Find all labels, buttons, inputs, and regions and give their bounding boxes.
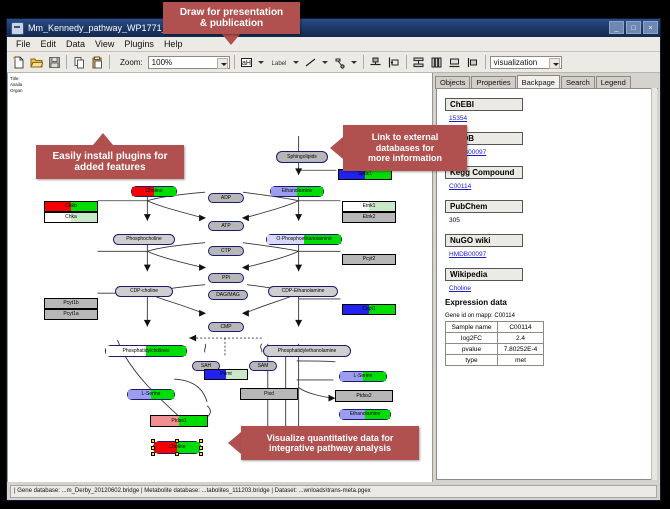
visualization-combobox[interactable]: visualization bbox=[490, 56, 562, 69]
gene-node-ptdss2[interactable]: Ptdss2 bbox=[335, 390, 393, 402]
minimize-button[interactable]: _ bbox=[609, 21, 624, 34]
database-name-nugo-wiki: NuGO wiki bbox=[445, 234, 523, 247]
database-name-chebi: ChEBI bbox=[445, 98, 523, 111]
callout-external-links: Link to external databases for more info… bbox=[343, 125, 467, 171]
node-label: PPi bbox=[222, 276, 230, 281]
node-label: Phosphatidylcholines bbox=[123, 349, 170, 354]
metabolite-node-cdp-ethanolamine[interactable]: CDP-Ethanolamine bbox=[268, 286, 338, 297]
callout-visualize-arrow bbox=[228, 432, 241, 454]
database-link[interactable]: HMDB00097 bbox=[449, 251, 656, 258]
app-icon bbox=[11, 22, 24, 35]
toolbar-separator-6 bbox=[485, 55, 486, 69]
side-panel: Objects Properties Backpage Search Legen… bbox=[433, 73, 660, 482]
metabolite-node-ctp[interactable]: CTP bbox=[208, 246, 244, 256]
menu-view[interactable]: View bbox=[90, 39, 119, 49]
database-value: 305 bbox=[449, 217, 656, 224]
expression-row: log2FC2.4 bbox=[446, 333, 544, 344]
node-label: CTP bbox=[221, 249, 231, 254]
toolbar-separator-1 bbox=[66, 55, 67, 69]
node-label: Etnk2 bbox=[363, 215, 376, 220]
database-name-pubchem: PubChem bbox=[445, 200, 523, 213]
node-label: Pemt bbox=[220, 372, 232, 377]
toolbar-separator-3 bbox=[234, 55, 235, 69]
metabolite-node-ethanolamine-bottom[interactable]: Ethanolamine bbox=[339, 409, 391, 420]
expression-value: C00114 bbox=[498, 322, 544, 333]
node-label: Ethanolamine bbox=[350, 412, 381, 417]
paste-icon[interactable] bbox=[89, 54, 105, 70]
metabolite-node-sphingolipids[interactable]: Sphingolipids bbox=[276, 151, 328, 163]
chevron-down-icon-2[interactable] bbox=[549, 58, 560, 69]
expression-key: Sample name bbox=[446, 322, 498, 333]
expression-key: pvalue bbox=[446, 344, 498, 355]
callout-draw-line1: Draw for presentation bbox=[180, 7, 283, 19]
callout-draw: Draw for presentation & publication bbox=[163, 2, 300, 34]
toolbar-separator-4 bbox=[363, 55, 364, 69]
selection-handle[interactable] bbox=[151, 452, 155, 456]
expression-data-title: Expression data bbox=[445, 298, 656, 307]
gene-id-line: Gene id on mapp: C00114 bbox=[445, 313, 656, 319]
callout-link-line1: Link to external bbox=[372, 132, 439, 142]
metabolite-node-cmp[interactable]: CMP bbox=[208, 322, 244, 332]
metabolite-node-l-serine-right[interactable]: L-Serine bbox=[339, 371, 387, 382]
visualization-value: visualization bbox=[494, 58, 538, 67]
database-link[interactable]: Choline bbox=[449, 285, 656, 292]
gene-node-cept1-top[interactable]: Cept1 bbox=[342, 304, 396, 315]
size-equal-icon[interactable] bbox=[447, 54, 463, 70]
node-label: Pcyt1b bbox=[63, 301, 78, 306]
expression-table: Sample nameC00114log2FC2.4pvalue7.80252E… bbox=[445, 321, 544, 366]
database-link[interactable]: 15354 bbox=[449, 115, 656, 122]
line-icon[interactable] bbox=[303, 54, 319, 70]
tab-legend[interactable]: Legend bbox=[596, 76, 631, 88]
gene-node-pemt[interactable]: Pemt bbox=[204, 369, 248, 380]
expression-row: Sample nameC00114 bbox=[446, 322, 544, 333]
expression-key: log2FC bbox=[446, 333, 498, 344]
metabolite-node-dagmag[interactable]: DAG/MAG bbox=[208, 290, 248, 300]
datanode-dropdown-icon[interactable] bbox=[257, 54, 266, 70]
gene-node-etnk1[interactable]: Etnk1 bbox=[342, 201, 396, 212]
database-link[interactable]: C00114 bbox=[449, 183, 656, 190]
expression-value: 7.80252E-4 bbox=[498, 344, 544, 355]
callout-visualize: Visualize quantitative data for integrat… bbox=[241, 426, 419, 460]
node-label: L-Serine bbox=[354, 374, 373, 379]
node-label: Sphingolipids bbox=[287, 155, 317, 160]
node-label: L-Serine bbox=[142, 392, 161, 397]
menu-plugins[interactable]: Plugins bbox=[119, 39, 159, 49]
callout-plugins-line2: added features bbox=[74, 162, 145, 174]
callout-link-arrow bbox=[330, 137, 343, 159]
expression-key: type bbox=[446, 355, 498, 366]
database-link[interactable]: HMDB00097 bbox=[449, 149, 656, 156]
screenshot-frame: Mm_Kennedy_pathway_WP1771_45176.gpml _ □… bbox=[0, 0, 670, 509]
gene-node-etnk2[interactable]: Etnk2 bbox=[342, 212, 396, 223]
save-icon[interactable] bbox=[46, 54, 62, 70]
menu-data[interactable]: Data bbox=[61, 39, 90, 49]
distribute-icon[interactable] bbox=[429, 54, 445, 70]
selection-handle[interactable] bbox=[175, 452, 179, 456]
node-label: Etnk1 bbox=[363, 204, 376, 209]
svg-text:Label: Label bbox=[271, 61, 286, 67]
close-button[interactable]: × bbox=[643, 21, 658, 34]
metabolite-node-ppi[interactable]: PPi bbox=[208, 273, 244, 283]
callout-plugins: Easily install plugins for added feature… bbox=[36, 145, 184, 179]
expression-value: 2.4 bbox=[498, 333, 544, 344]
database-row: WikipediaCholine bbox=[445, 264, 656, 292]
chevron-down-icon[interactable] bbox=[217, 58, 228, 69]
callout-link-line3: more information bbox=[368, 153, 442, 163]
node-label: Choline bbox=[169, 445, 186, 450]
gene-node-pcyt1a[interactable]: Pcyt1a bbox=[44, 309, 98, 320]
selection-handle[interactable] bbox=[151, 439, 155, 443]
database-name-wikipedia: Wikipedia bbox=[445, 268, 523, 281]
database-row: ChEBI15354 bbox=[445, 94, 656, 122]
database-row: HMDBHMDB00097 bbox=[445, 128, 656, 156]
status-bar: | Gene database: ...m_Derby_20120602.bri… bbox=[7, 482, 660, 500]
menu-file[interactable]: File bbox=[11, 39, 36, 49]
stack-icon[interactable] bbox=[411, 54, 427, 70]
align-left-icon[interactable] bbox=[386, 54, 402, 70]
align-bottom-icon[interactable] bbox=[368, 54, 384, 70]
node-label: Pcyt2 bbox=[363, 257, 376, 262]
tab-objects[interactable]: Objects bbox=[435, 76, 470, 88]
gene-node-pcyt2[interactable]: Pcyt2 bbox=[342, 254, 396, 265]
callout-draw-line2: & publication bbox=[200, 18, 263, 30]
node-label: O-Phosphoethanolamine bbox=[276, 237, 331, 242]
zoom-value: 100% bbox=[152, 58, 172, 67]
metabolite-node-phosphatidylethanolamine[interactable]: Phosphatidylethanolamine bbox=[263, 345, 351, 357]
node-label: CMP bbox=[220, 325, 231, 330]
metabolite-node-atp[interactable]: ATP bbox=[208, 221, 244, 231]
expression-row: typemet bbox=[446, 355, 544, 366]
selection-handle[interactable] bbox=[199, 446, 203, 450]
node-label: Ethanolamine bbox=[282, 189, 313, 194]
side-panel-tabs: Objects Properties Backpage Search Legen… bbox=[435, 74, 658, 89]
gene-node-chkb[interactable]: Chkb bbox=[44, 201, 98, 212]
gene-node-chka[interactable]: Chka bbox=[44, 212, 98, 223]
database-row: NuGO wikiHMDB00097 bbox=[445, 230, 656, 258]
metabolite-node-choline-top[interactable]: Choline bbox=[131, 186, 177, 197]
bring-front-icon[interactable] bbox=[465, 54, 481, 70]
metabolite-node-sam[interactable]: SAM bbox=[249, 361, 277, 371]
metabolite-node-ethanolamine-top[interactable]: Ethanolamine bbox=[270, 186, 324, 197]
gene-node-pcyt1[interactable]: Pcyt1b bbox=[44, 298, 98, 309]
callout-plugins-line1: Easily install plugins for bbox=[52, 151, 167, 163]
metabolite-node-adp[interactable]: ADP bbox=[208, 193, 244, 203]
zoom-combobox[interactable]: 100% bbox=[148, 56, 230, 69]
node-label: Cept1 bbox=[362, 307, 375, 312]
tab-properties[interactable]: Properties bbox=[471, 76, 515, 88]
node-label: Ptdss2 bbox=[356, 394, 371, 399]
node-label: SAM bbox=[258, 364, 269, 369]
node-label: Chkb bbox=[65, 204, 77, 209]
status-text: | Gene database: ...m_Derby_20120602.bri… bbox=[10, 485, 657, 498]
node-label: CDP-Ethanolamine bbox=[282, 289, 325, 294]
node-label: ATP bbox=[221, 224, 230, 229]
menu-bar: File Edit Data View Plugins Help bbox=[7, 37, 660, 52]
title-bar: Mm_Kennedy_pathway_WP1771_45176.gpml _ □… bbox=[7, 19, 660, 37]
node-label: Pcyt1a bbox=[63, 312, 78, 317]
copy-icon[interactable] bbox=[71, 54, 87, 70]
node-label: DAG/MAG bbox=[216, 293, 240, 298]
expression-value: met bbox=[498, 355, 544, 366]
tab-search[interactable]: Search bbox=[561, 76, 595, 88]
metabolite-node-l-serine-left[interactable]: L-Serine bbox=[127, 389, 175, 400]
line-dropdown-icon[interactable] bbox=[321, 54, 330, 70]
label-icon[interactable]: Label bbox=[268, 54, 290, 70]
node-label: ADP bbox=[221, 196, 231, 201]
node-label: SAH bbox=[201, 364, 211, 369]
zoom-label: Zoom: bbox=[120, 58, 143, 67]
callout-visualize-line1: Visualize quantitative data for bbox=[267, 433, 394, 443]
receptor-icon[interactable] bbox=[332, 54, 348, 70]
selection-handle[interactable] bbox=[199, 439, 203, 443]
selection-handle[interactable] bbox=[151, 446, 155, 450]
main-content: Title: Availa Organ bbox=[7, 73, 660, 482]
callout-plugins-arrow bbox=[93, 133, 113, 145]
callout-link-line2: databases for bbox=[376, 143, 435, 153]
node-label: Choline bbox=[146, 189, 163, 194]
tab-backpage[interactable]: Backpage bbox=[517, 75, 560, 88]
database-links-list: ChEBI15354HMDBHMDB00097Kegg CompoundC001… bbox=[445, 94, 656, 292]
maximize-button[interactable]: □ bbox=[626, 21, 641, 34]
database-row: PubChem305 bbox=[445, 196, 656, 224]
node-label: Phosphatidylethanolamine bbox=[278, 349, 337, 354]
callout-visualize-line2: integrative pathway analysis bbox=[269, 443, 391, 453]
metabolite-node-phosphocholine[interactable]: Phosphocholine bbox=[113, 234, 175, 245]
label-dropdown-icon[interactable] bbox=[292, 54, 301, 70]
menu-edit[interactable]: Edit bbox=[36, 39, 62, 49]
node-label: CDP-choline bbox=[130, 289, 158, 294]
datanode-icon[interactable]: aH bbox=[239, 54, 255, 70]
expression-row: pvalue7.80252E-4 bbox=[446, 344, 544, 355]
toolbar-separator-2 bbox=[109, 55, 110, 69]
node-label: Ptdss1 bbox=[171, 419, 186, 424]
backpage-content: ChEBI15354HMDBHMDB00097Kegg CompoundC001… bbox=[436, 88, 657, 480]
window-controls: _ □ × bbox=[609, 21, 658, 34]
toolbar-separator-5 bbox=[406, 55, 407, 69]
metabolite-node-cdp-choline[interactable]: CDP-choline bbox=[115, 286, 173, 297]
callout-draw-arrow bbox=[221, 33, 241, 45]
receptor-dropdown-icon[interactable] bbox=[350, 54, 359, 70]
gene-node-ptdss1[interactable]: Ptdss1 bbox=[150, 415, 208, 427]
pathvisio-window: Mm_Kennedy_pathway_WP1771_45176.gpml _ □… bbox=[6, 18, 661, 501]
gene-node-pisd[interactable]: Pisd bbox=[240, 388, 298, 400]
menu-help[interactable]: Help bbox=[159, 39, 188, 49]
node-label: Sptlc1 bbox=[358, 172, 372, 177]
node-label: Chka bbox=[65, 215, 77, 220]
node-label: Pisd bbox=[264, 392, 274, 397]
new-file-icon[interactable] bbox=[10, 54, 26, 70]
toolbar: Zoom: 100% aH Label bbox=[7, 52, 660, 73]
selection-handle[interactable] bbox=[175, 439, 179, 443]
svg-text:aH: aH bbox=[242, 60, 251, 67]
metabolite-node-phosphatidylcholines[interactable]: Phosphatidylcholines bbox=[105, 345, 187, 357]
open-folder-icon[interactable] bbox=[28, 54, 44, 70]
selection-handle[interactable] bbox=[199, 452, 203, 456]
node-label: Phosphocholine bbox=[126, 237, 162, 242]
backpage-scrollbar[interactable] bbox=[651, 88, 657, 480]
metabolite-node-o-phosphoethanolamine[interactable]: O-Phosphoethanolamine bbox=[266, 234, 342, 245]
database-row: Kegg CompoundC00114 bbox=[445, 162, 656, 190]
